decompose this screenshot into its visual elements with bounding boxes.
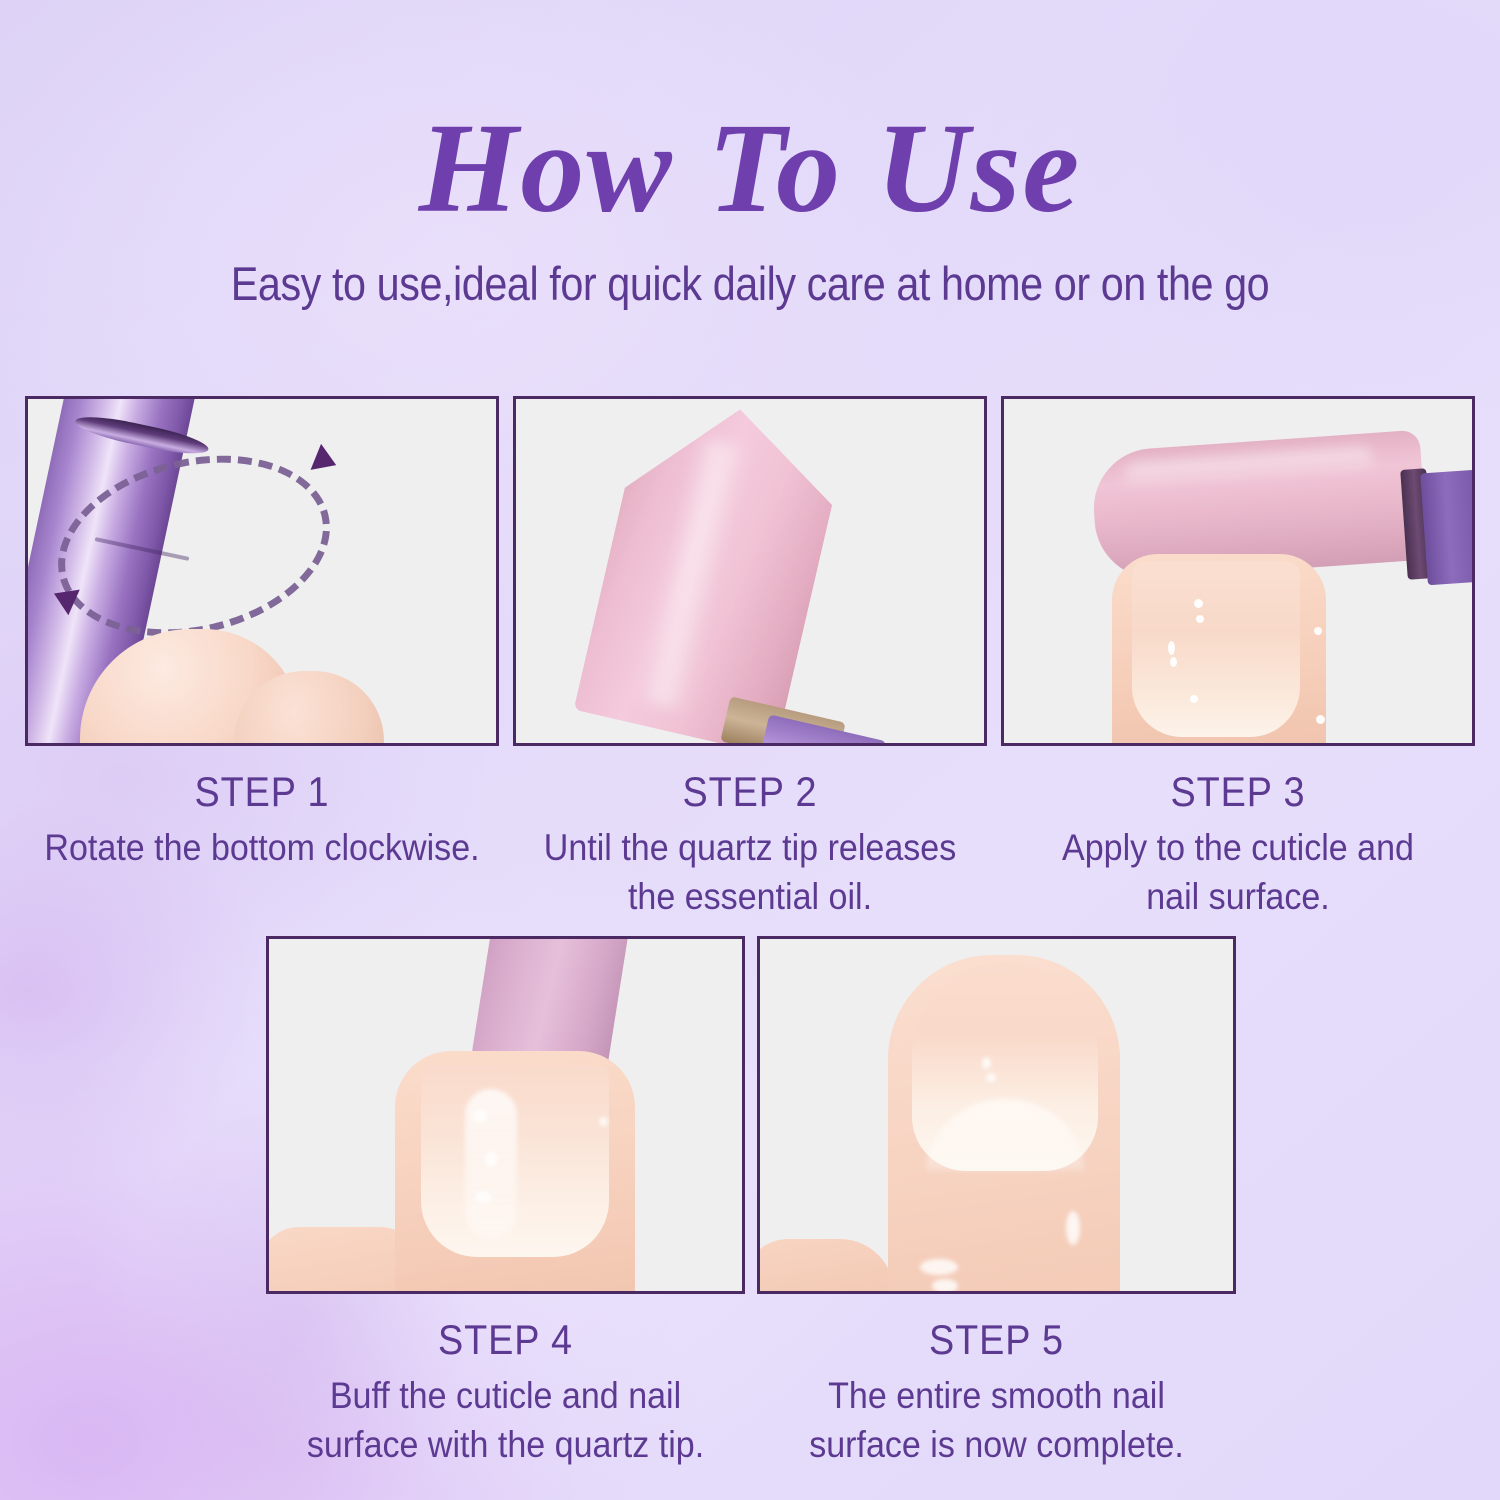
step-5-description-line-2: surface is now complete. (776, 1421, 1217, 1470)
step-card-1: STEP 1 Rotate the bottom clockwise. (25, 396, 499, 873)
step-5-description-line-1: The entire smooth nail (776, 1372, 1217, 1421)
step-4-label: STEP 4 (290, 1316, 721, 1364)
step-3-caption: STEP 3 Apply to the cuticle and nail sur… (1001, 768, 1475, 922)
step-1-description-line-1: Rotate the bottom clockwise. (44, 824, 480, 873)
nail-shine (986, 1073, 996, 1082)
page-title: How To Use (0, 0, 1500, 232)
step-3-description-line-1: Apply to the cuticle and (1020, 824, 1456, 873)
oil-droplet (1316, 715, 1325, 724)
step-4-description: Buff the cuticle and nail surface with t… (285, 1372, 726, 1470)
rotation-arrow-top-icon (311, 444, 342, 478)
step-1-illustration (28, 399, 496, 743)
oil-droplet (1170, 657, 1177, 667)
step-4-description-line-2: surface with the quartz tip. (285, 1421, 726, 1470)
oil-droplet (473, 1109, 487, 1123)
step-1-caption: STEP 1 Rotate the bottom clockwise. (25, 768, 499, 873)
step-5-label: STEP 5 (781, 1316, 1212, 1364)
fingernail (1132, 561, 1300, 737)
step-card-4: STEP 4 Buff the cuticle and nail surface… (266, 936, 745, 1470)
step-3-photo (1001, 396, 1475, 746)
step-2-illustration (516, 399, 984, 743)
oil-residue (932, 1279, 958, 1293)
page-subtitle: Easy to use,ideal for quick daily care a… (90, 232, 1410, 311)
step-2-description-line-1: Until the quartz tip releases (532, 824, 968, 873)
step-2-label: STEP 2 (537, 768, 964, 816)
step-3-label: STEP 3 (1025, 768, 1452, 816)
adjacent-finger (757, 1239, 894, 1294)
step-4-caption: STEP 4 Buff the cuticle and nail surface… (266, 1316, 745, 1470)
step-2-description: Until the quartz tip releases the essent… (532, 824, 968, 922)
step-5-caption: STEP 5 The entire smooth nail surface is… (757, 1316, 1236, 1470)
step-1-label: STEP 1 (49, 768, 476, 816)
oil-droplet (1196, 615, 1204, 623)
step-2-description-line-2: the essential oil. (532, 873, 968, 922)
oil-residue (920, 1259, 958, 1275)
step-1-description: Rotate the bottom clockwise. (44, 824, 480, 873)
step-2-photo (513, 396, 987, 746)
step-2-caption: STEP 2 Until the quartz tip releases the… (513, 768, 987, 922)
oil-droplet (1314, 627, 1322, 635)
oil-droplet (1168, 641, 1175, 655)
pen-barrel (1420, 469, 1475, 586)
step-3-description-line-2: nail surface. (1020, 873, 1456, 922)
nail-shine (982, 1057, 991, 1069)
step-4-description-line-1: Buff the cuticle and nail (285, 1372, 726, 1421)
header: How To Use Easy to use,ideal for quick d… (0, 0, 1500, 311)
oil-droplet (1194, 599, 1203, 608)
step-3-illustration (1004, 399, 1472, 743)
oil-droplet (1190, 695, 1198, 703)
step-card-5: STEP 5 The entire smooth nail surface is… (757, 936, 1236, 1470)
step-4-illustration (269, 939, 742, 1291)
step-card-2: STEP 2 Until the quartz tip releases the… (513, 396, 987, 922)
step-5-description: The entire smooth nail surface is now co… (776, 1372, 1217, 1470)
step-1-photo (25, 396, 499, 746)
step-3-description: Apply to the cuticle and nail surface. (1020, 824, 1456, 922)
step-5-illustration (760, 939, 1233, 1291)
step-5-photo (757, 936, 1236, 1294)
oil-droplet (599, 1117, 608, 1126)
oil-residue (1066, 1211, 1080, 1245)
step-4-photo (266, 936, 745, 1294)
oil-droplet (475, 1191, 491, 1203)
step-card-3: STEP 3 Apply to the cuticle and nail sur… (1001, 396, 1475, 922)
oil-droplet (485, 1151, 497, 1167)
how-to-use-infographic: How To Use Easy to use,ideal for quick d… (0, 0, 1500, 1500)
